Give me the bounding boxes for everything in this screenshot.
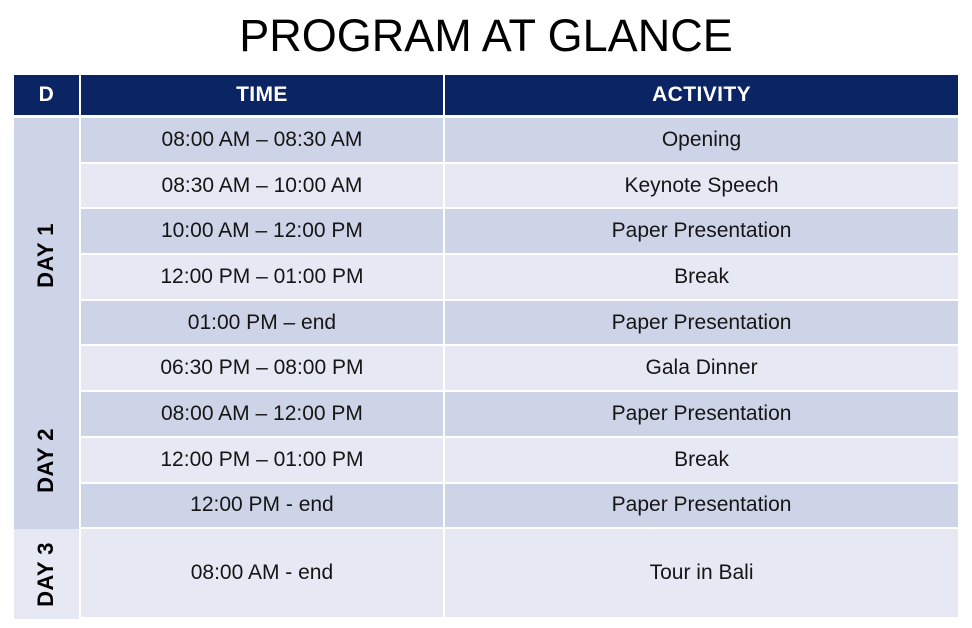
time-cell: 08:00 AM – 08:30 AM — [81, 118, 445, 164]
time-cell: 10:00 AM – 12:00 PM — [81, 209, 445, 255]
activity-cell: Break — [445, 438, 958, 484]
table-row: 08:30 AM – 10:00 AM Keynote Speech — [14, 164, 958, 210]
table-row: 06:30 PM – 08:00 PM Gala Dinner — [14, 346, 958, 392]
day-cell-3: DAY 3 — [14, 529, 81, 619]
time-cell: 12:00 PM – 01:00 PM — [81, 438, 445, 484]
column-header-time: TIME — [81, 75, 445, 118]
activity-cell: Paper Presentation — [445, 484, 958, 530]
day-label: DAY 2 — [33, 428, 59, 493]
day-label: DAY 1 — [33, 223, 59, 288]
table-row: 10:00 AM – 12:00 PM Paper Presentation — [14, 209, 958, 255]
activity-cell: Tour in Bali — [445, 529, 958, 619]
time-cell: 08:00 AM - end — [81, 529, 445, 619]
table-row: 01:00 PM – end Paper Presentation — [14, 301, 958, 347]
table-row: DAY 1 08:00 AM – 08:30 AM Opening — [14, 118, 958, 164]
table-header-row: D TIME ACTIVITY — [14, 75, 958, 118]
activity-cell: Paper Presentation — [445, 392, 958, 438]
table-row: 12:00 PM – 01:00 PM Break — [14, 255, 958, 301]
activity-cell: Gala Dinner — [445, 346, 958, 392]
column-header-day: D — [14, 75, 81, 118]
time-cell: 08:00 AM – 12:00 PM — [81, 392, 445, 438]
day-cell-2: DAY 2 — [14, 392, 81, 529]
column-header-activity: ACTIVITY — [445, 75, 958, 118]
day-cell-1: DAY 1 — [14, 118, 81, 392]
page-title: PROGRAM AT GLANCE — [0, 6, 972, 66]
time-cell: 08:30 AM – 10:00 AM — [81, 164, 445, 210]
activity-cell: Paper Presentation — [445, 209, 958, 255]
table-row: 12:00 PM – 01:00 PM Break — [14, 438, 958, 484]
table-row: DAY 2 08:00 AM – 12:00 PM Paper Presenta… — [14, 392, 958, 438]
program-schedule-table: D TIME ACTIVITY DAY 1 08:00 AM – 08:30 A… — [14, 75, 958, 619]
activity-cell: Opening — [445, 118, 958, 164]
activity-cell: Paper Presentation — [445, 301, 958, 347]
activity-cell: Keynote Speech — [445, 164, 958, 210]
table-row: DAY 3 08:00 AM - end Tour in Bali — [14, 529, 958, 619]
time-cell: 06:30 PM – 08:00 PM — [81, 346, 445, 392]
time-cell: 12:00 PM – 01:00 PM — [81, 255, 445, 301]
table-row: 12:00 PM - end Paper Presentation — [14, 484, 958, 530]
day-label: DAY 3 — [33, 542, 59, 607]
time-cell: 01:00 PM – end — [81, 301, 445, 347]
activity-cell: Break — [445, 255, 958, 301]
time-cell: 12:00 PM - end — [81, 484, 445, 530]
